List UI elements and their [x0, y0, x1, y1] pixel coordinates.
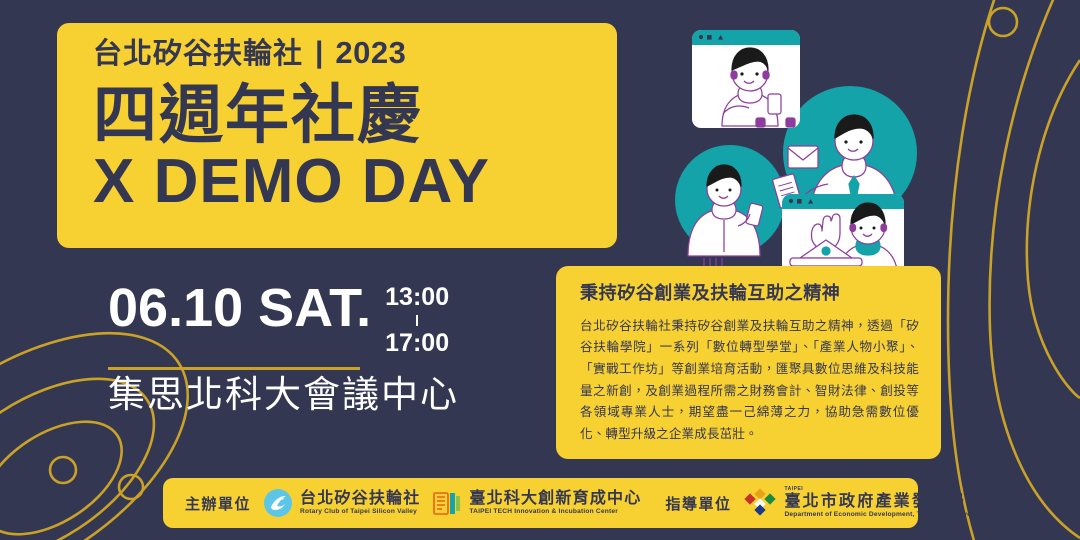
club-name: 台北矽谷扶輪社: [93, 40, 303, 69]
organizer-taipei-tech: 臺北科大創新育成中心 TAIPEI TECH Innovation & Incu…: [432, 488, 641, 518]
title-kicker: 台北矽谷扶輪社 | 2023: [93, 37, 617, 81]
organizer-label: 主辦單位: [185, 493, 251, 514]
advisor-taipei-city: TAIPEI 臺北市政府產業發展局 Department of Economic…: [743, 487, 994, 520]
taipei-city-government-logo: [743, 488, 777, 518]
organizer-rotary: 台北矽谷扶輪社 Rotary Club of Taipei Silicon Va…: [263, 488, 420, 518]
online-networking-illustration: [660, 8, 950, 288]
advisor-taipei-tiny-label: TAIPEI: [784, 487, 994, 492]
event-time-range: 13:00 17:00: [385, 281, 449, 356]
description-body: 台北矽谷扶輪社秉持矽谷創業及扶輪互助之精神，透過「矽谷扶輪學院」一系列「數位轉型…: [580, 316, 919, 446]
organizer-taipei-tech-name-en: TAIPEI TECH Innovation & Incubation Cent…: [469, 508, 641, 516]
title-card: 台北矽谷扶輪社 | 2023 四週年社慶 X DEMO DAY: [57, 23, 617, 248]
page-title: 四週年社慶: [93, 83, 617, 149]
hashtag: #貝殼放大: [580, 456, 643, 476]
organizer-taipei-tech-text: 臺北科大創新育成中心 TAIPEI TECH Innovation & Incu…: [469, 490, 641, 517]
hashtag: #鑫科材料科技(股)公司: [737, 456, 877, 476]
advisor-taipei-city-name-zh: 臺北市政府產業發展局: [784, 493, 994, 511]
sponsor-bar: 主辦單位 台北矽谷扶輪社 Rotary Club of Taipei Silic…: [163, 478, 918, 528]
hashtag: #水源資本: [659, 456, 722, 476]
organizer-rotary-name-zh: 台北矽谷扶輪社: [300, 490, 420, 508]
event-venue: 集思北科大會議中心: [108, 374, 528, 417]
page-subtitle: X DEMO DAY: [93, 151, 617, 213]
event-year: 2023: [335, 37, 406, 68]
event-time-end: 17:00: [385, 331, 449, 356]
rotary-silicon-valley-logo: [263, 488, 293, 518]
advisor-taipei-city-name-en: Department of Economic Development, Taip…: [784, 511, 994, 519]
kicker-divider: |: [315, 38, 323, 68]
event-datetime-block: 06.10 SAT. 13:00 17:00 集思北科大會議中心: [108, 281, 528, 417]
gold-divider-rule: [108, 367, 360, 370]
event-time-start: 13:00: [385, 285, 449, 310]
organizer-taipei-tech-name-zh: 臺北科大創新育成中心: [469, 490, 641, 508]
advisor-taipei-city-text: TAIPEI 臺北市政府產業發展局 Department of Economic…: [784, 487, 994, 520]
event-date: 06.10 SAT.: [108, 281, 371, 335]
description-tags: #貝殼放大 #水源資本 #鑫科材料科技(股)公司: [580, 456, 919, 476]
advisor-label: 指導單位: [665, 493, 731, 514]
organizer-rotary-text: 台北矽谷扶輪社 Rotary Club of Taipei Silicon Va…: [300, 490, 420, 517]
description-heading: 秉持矽谷創業及扶輪互助之精神: [580, 283, 919, 305]
description-card: 秉持矽谷創業及扶輪互助之精神 台北矽谷扶輪社秉持矽谷創業及扶輪互助之精神，透過「…: [556, 266, 941, 459]
time-range-dash: [416, 315, 418, 326]
date-row: 06.10 SAT. 13:00 17:00: [108, 281, 528, 356]
event-poster: 台北矽谷扶輪社 | 2023 四週年社慶 X DEMO DAY 06.10 SA…: [0, 0, 1080, 540]
organizer-rotary-name-en: Rotary Club of Taipei Silicon Valley: [300, 508, 420, 516]
taipei-tech-incubation-logo: [432, 488, 462, 518]
